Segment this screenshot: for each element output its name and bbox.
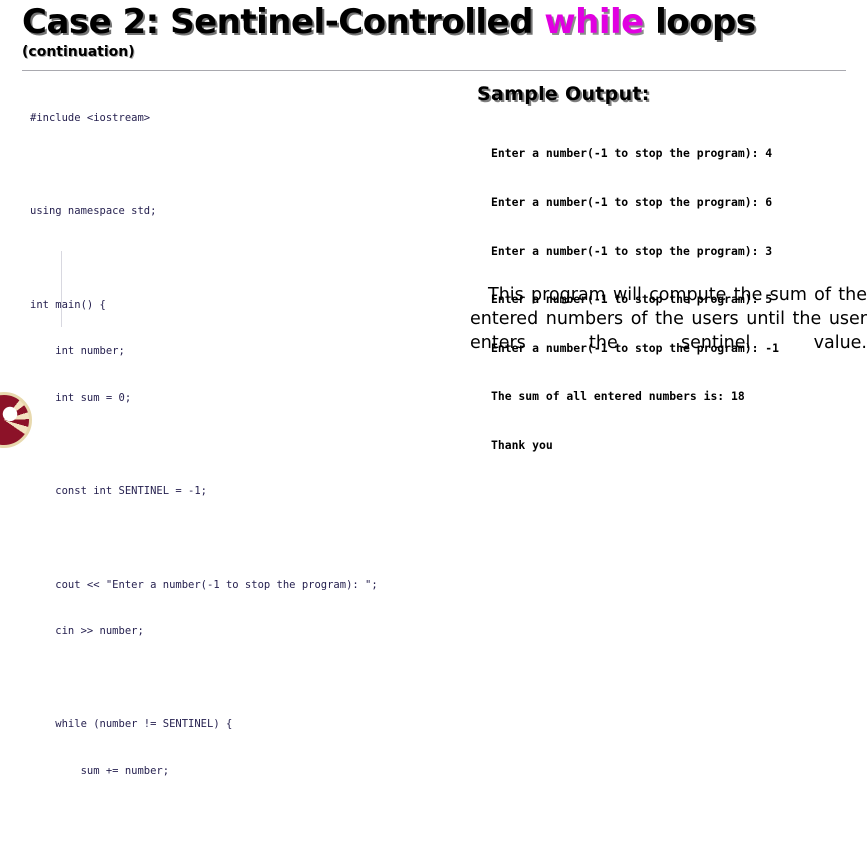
explanation-paragraph: This program will compute the sum of the… — [470, 283, 867, 379]
page-subtitle: (continuation) — [22, 44, 847, 60]
code-line: using namespace std; — [30, 204, 470, 220]
code-line: sum += number; — [30, 764, 470, 780]
slide-header: Case 2: Sentinel-Controlled while loops … — [22, 2, 847, 60]
corner-ornament-icon — [0, 392, 32, 448]
source-code-block: #include <iostream> using namespace std;… — [30, 80, 470, 844]
code-line — [30, 438, 470, 454]
page-title-keyword-while: while — [544, 2, 643, 42]
code-line — [30, 531, 470, 547]
output-line: Thank you — [491, 437, 867, 453]
code-line: while (number != SENTINEL) { — [30, 717, 470, 733]
code-line — [30, 158, 470, 174]
code-line: #include <iostream> — [30, 111, 470, 127]
output-line: Enter a number(-1 to stop the program): … — [491, 194, 867, 210]
code-panel: #include <iostream> using namespace std;… — [30, 80, 470, 844]
sample-output-heading: Sample Output: — [477, 83, 867, 105]
code-line: int number; — [30, 344, 470, 360]
code-line: int sum = 0; — [30, 391, 470, 407]
code-line — [30, 811, 470, 827]
page-title-part1: Case 2: Sentinel-Controlled — [22, 2, 544, 42]
output-line: Enter a number(-1 to stop the program): … — [491, 145, 867, 161]
output-line: The sum of all entered numbers is: 18 — [491, 388, 867, 404]
code-line: cout << "Enter a number(-1 to stop the p… — [30, 578, 470, 594]
output-line: Enter a number(-1 to stop the program): … — [491, 243, 867, 259]
title-divider-rule — [22, 70, 846, 71]
code-line: int main() { — [30, 298, 470, 314]
code-line: const int SENTINEL = -1; — [30, 484, 470, 500]
code-line: cin >> number; — [30, 624, 470, 640]
code-line — [30, 671, 470, 687]
page-title-part2: loops — [644, 2, 756, 42]
page-title: Case 2: Sentinel-Controlled while loops — [22, 2, 847, 42]
code-line — [30, 251, 470, 267]
